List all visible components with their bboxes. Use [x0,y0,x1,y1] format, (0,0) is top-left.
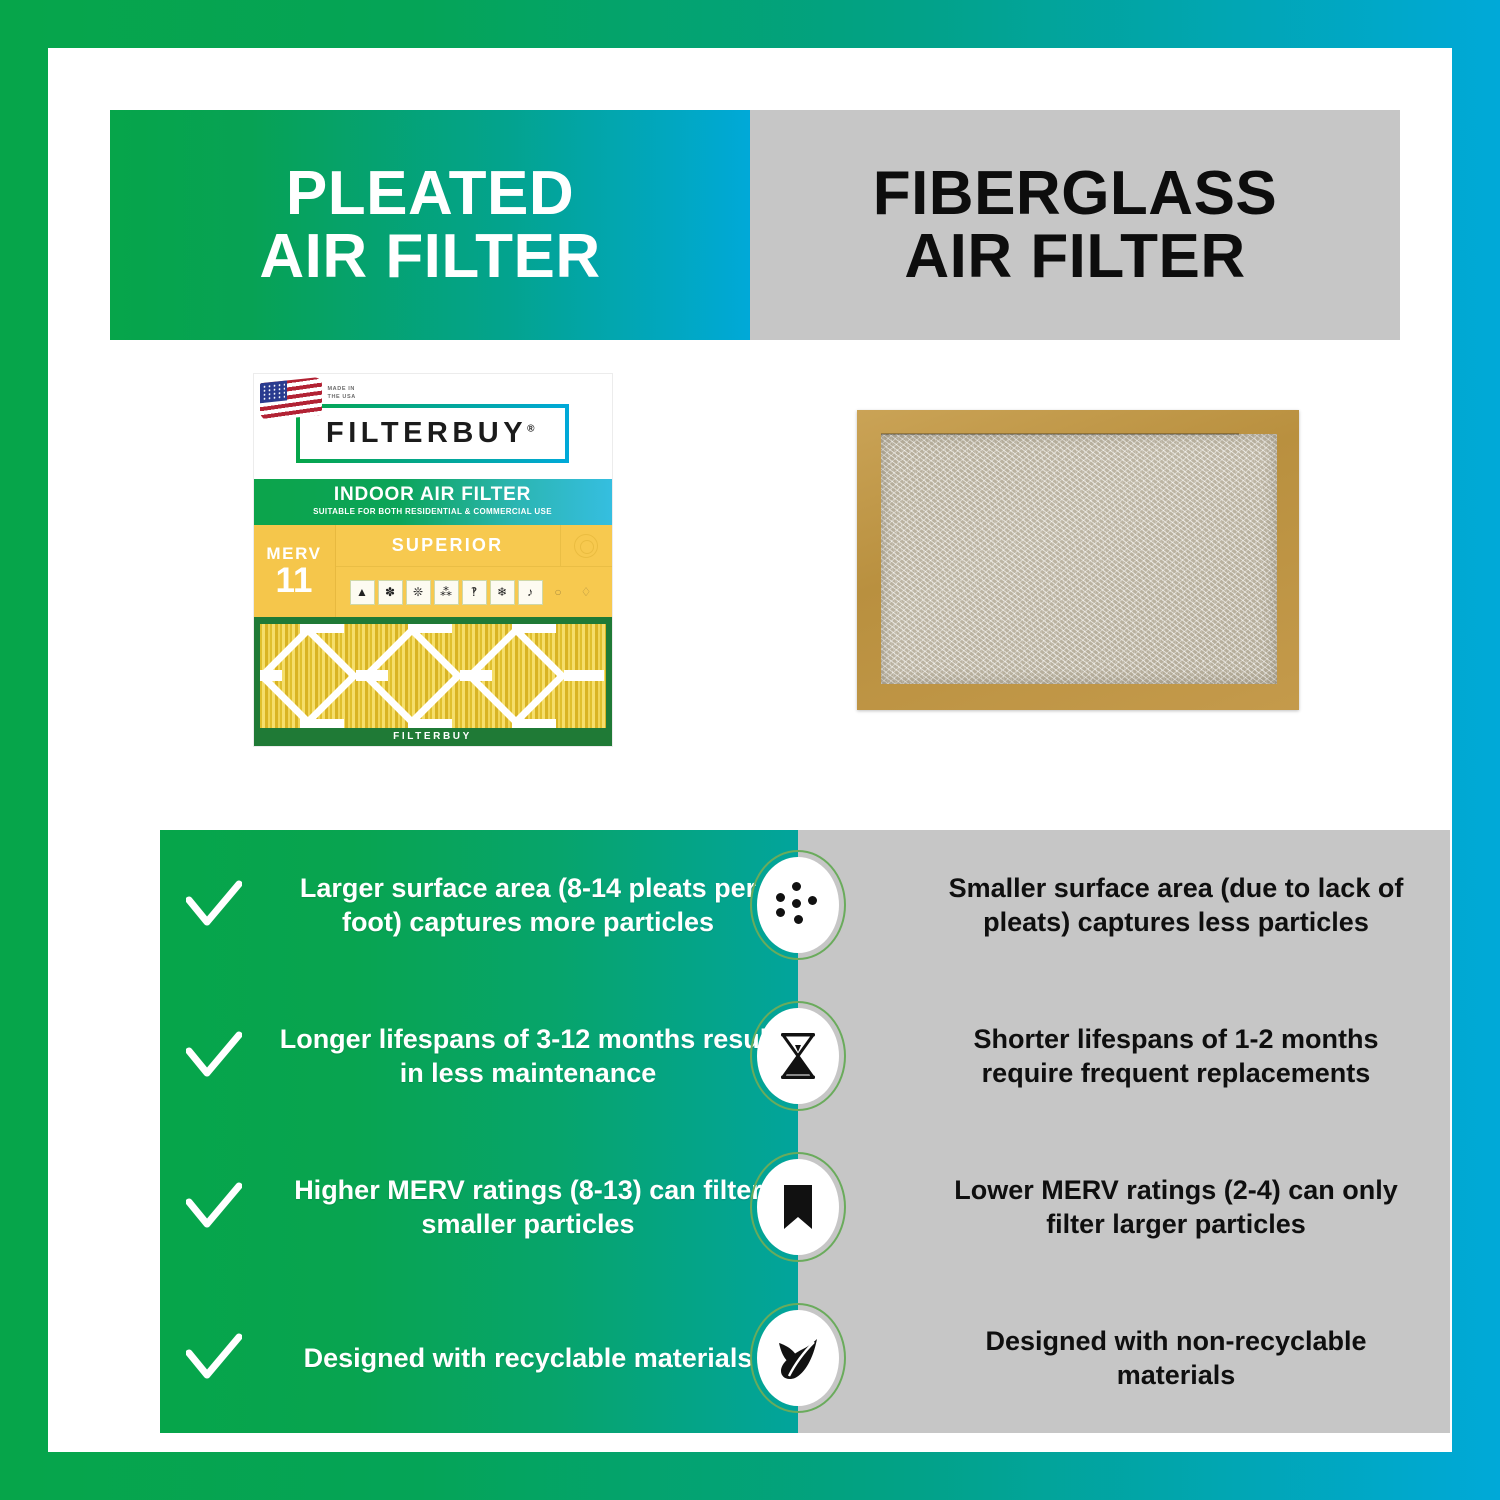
bacteria-icon: ⁂ [434,580,459,605]
header-pleated-line1: PLEATED [259,162,600,225]
header-fiberglass-title: FIBERGLASS AIR FILTER [873,162,1278,288]
comparison-rows: Larger surface area (8-14 pleats per foo… [160,830,1450,1433]
pleated-filter-package: MADE IN THE USA FILTERBUY® INDOOR AIR FI… [254,374,612,746]
row-badge [750,1001,846,1111]
mold-icon: ❊ [406,580,431,605]
grid-bar [408,719,452,728]
comparison-row: Larger surface area (8-14 pleats per foo… [160,830,1450,981]
particle-dot [776,893,785,902]
row-text-fiberglass: Designed with non-recyclable materials [914,1324,1450,1392]
comparison-panel: Larger surface area (8-14 pleats per foo… [160,830,1450,1433]
pet-dander-icon: ❄ [490,580,515,605]
filter-frame-brand: FILTERBUY [260,731,606,742]
badge-inner [757,1310,839,1406]
header-row: PLEATED AIR FILTER FIBERGLASS AIR FILTER [110,110,1400,340]
particle-dot [792,899,801,908]
check-mark-cell [160,1333,268,1383]
usa-flag-icon [260,377,322,422]
check-mark-cell [160,880,268,930]
tier-row: SUPERIOR [336,525,612,567]
capability-icon-strip: ▲ ✽ ❊ ⁂ ‽ ❄ ♪ ○ ♢ [336,567,612,617]
particle-dot [776,908,785,917]
grid-bar [564,670,604,681]
header-fiberglass-line1: FIBERGLASS [873,162,1278,225]
band-subtitle: SUITABLE FOR BOTH RESIDENTIAL & COMMERCI… [254,507,612,516]
badge-inner [757,1008,839,1104]
comparison-row: Designed with recyclable materials Desig… [160,1282,1450,1433]
certification-seal [560,525,612,566]
made-in-usa-label: MADE IN THE USA [328,385,356,402]
header-pleated: PLEATED AIR FILTER [110,110,750,340]
check-icon [186,1031,242,1081]
trademark-mark: ® [527,423,539,434]
pollen-icon: ✽ [378,580,403,605]
leaf-icon [773,1333,823,1383]
header-pleated-title: PLEATED AIR FILTER [259,162,600,288]
dust-icon: ▲ [350,580,375,605]
grid-bar [300,624,344,633]
filterbuy-logo-box: FILTERBUY® [296,404,569,463]
badge-inner [757,857,839,953]
odor-icon: ○ [546,580,571,605]
row-text-pleated: Higher MERV ratings (8-13) can filter sm… [268,1173,798,1241]
bookmark-icon [773,1182,823,1232]
grid-bar [408,624,452,633]
row-text-fiberglass: Lower MERV ratings (2-4) can only filter… [914,1173,1450,1241]
particles-icon [773,882,823,928]
header-pleated-line2: AIR FILTER [259,225,600,288]
filterbuy-logo-text: FILTERBUY® [326,417,539,450]
pleated-product-cell: MADE IN THE USA FILTERBUY® INDOOR AIR FI… [110,340,755,780]
grid-bar [512,624,556,633]
package-header: MADE IN THE USA FILTERBUY® [254,374,612,479]
fiberglass-mesh-texture [881,434,1277,684]
header-fiberglass-line2: AIR FILTER [873,225,1278,288]
made-in-line1: MADE IN [328,385,356,393]
grid-bar [300,719,344,728]
row-text-pleated: Longer lifespans of 3-12 months result i… [268,1022,798,1090]
row-text-pleated: Larger surface area (8-14 pleats per foo… [268,871,798,939]
row-text-pleated: Designed with recyclable materials [268,1341,798,1375]
product-image-row: MADE IN THE USA FILTERBUY® INDOOR AIR FI… [110,340,1400,780]
merv-value: 11 [276,564,313,597]
merv-right-column: SUPERIOR ▲ ✽ ❊ ⁂ ‽ ❄ ♪ [336,525,612,617]
grid-bar [356,670,388,681]
check-mark-cell [160,1182,268,1232]
band-title: INDOOR AIR FILTER [254,484,612,506]
infographic-card: PLEATED AIR FILTER FIBERGLASS AIR FILTER… [48,48,1452,1452]
particle-dot [794,915,803,924]
merv-block: MERV 11 [254,525,336,617]
row-text-fiberglass: Shorter lifespans of 1-2 months require … [914,1022,1450,1090]
pleated-media-view: FILTERBUY [254,617,612,746]
comparison-row: Longer lifespans of 3-12 months result i… [160,981,1450,1132]
particle-dot [808,896,817,905]
made-in-line2: THE USA [328,393,356,401]
tier-label: SUPERIOR [336,525,560,566]
merv-row: MERV 11 SUPERIOR ▲ ✽ ❊ [254,525,612,617]
fiberglass-filter-image [857,410,1299,710]
smoke-icon: ♪ [518,580,543,605]
row-text-fiberglass: Smaller surface area (due to lack of ple… [914,871,1450,939]
pleat-texture [260,624,606,728]
fiberglass-product-cell [755,340,1400,780]
grid-bar [512,719,556,728]
badge-inner [757,1159,839,1255]
virus-icon: ‽ [462,580,487,605]
comparison-row: Higher MERV ratings (8-13) can filter sm… [160,1132,1450,1283]
indoor-air-filter-band: INDOOR AIR FILTER SUITABLE FOR BOTH RESI… [254,479,612,525]
grid-bar [260,670,282,681]
row-badge [750,1303,846,1413]
allergen-icon: ♢ [574,580,599,605]
grid-bar [460,670,492,681]
row-badge [750,850,846,960]
check-icon [186,1333,242,1383]
hourglass-icon [773,1031,823,1081]
brand-word: FILTERBUY [326,417,527,449]
check-mark-cell [160,1031,268,1081]
row-badge [750,1152,846,1262]
particle-dot [792,882,801,891]
check-icon [186,1182,242,1232]
seal-icon [574,534,598,558]
check-icon [186,880,242,930]
support-grid [260,624,606,728]
header-fiberglass: FIBERGLASS AIR FILTER [750,110,1400,340]
